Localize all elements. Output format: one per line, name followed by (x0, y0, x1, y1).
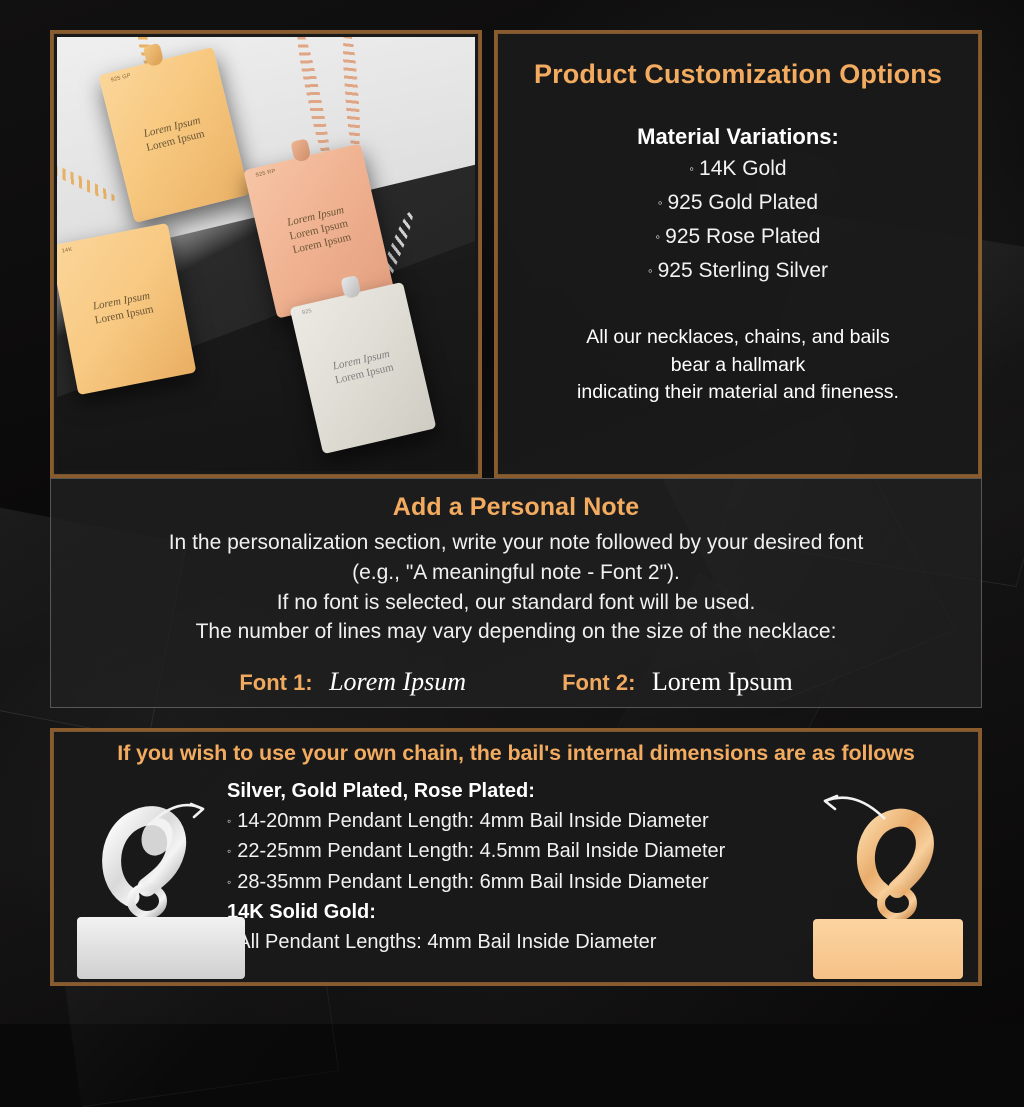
options-title: Product Customization Options (519, 59, 957, 90)
note-line: (e.g., "A meaningful note - Font 2"). (69, 558, 963, 588)
note-line: If no font is selected, our standard fon… (69, 588, 963, 618)
silver-bail-illustration (75, 779, 255, 979)
product-photo-panel: 925 GP Lorem Ipsum Lorem Ipsum 14K Lorem… (50, 30, 482, 478)
font-1-label: Font 1: (239, 670, 312, 695)
bail-dimensions-panel: If you wish to use your own chain, the b… (50, 728, 982, 986)
hallmark-label: 925 RP (255, 168, 276, 178)
hallmark-label: 925 (301, 308, 312, 316)
bullet-icon: ◦ (656, 229, 661, 244)
product-photo: 925 GP Lorem Ipsum Lorem Ipsum 14K Lorem… (57, 37, 475, 471)
font-2-sample-text: Lorem Ipsum (652, 667, 793, 696)
material-variations-heading: Material Variations: (519, 124, 957, 150)
font-2-label: Font 2: (562, 670, 635, 695)
pendant-14k-gold: 14K Lorem Ipsum Lorem Ipsum (57, 223, 196, 395)
material-label: 925 Rose Plated (665, 225, 820, 248)
material-label: 925 Sterling Silver (658, 259, 828, 282)
font-1-sample-row: Font 1: Lorem Ipsum (239, 667, 466, 697)
material-item: ◦925 Rose Plated (519, 220, 957, 254)
bail-dimension-text: All Pendant Lengths: 4mm Bail Inside Dia… (237, 931, 656, 953)
gold-bail-illustration (785, 779, 963, 979)
hallmark-line: bear a hallmark (519, 352, 957, 380)
hallmark-label: 14K (61, 247, 73, 255)
hallmark-line: indicating their material and fineness. (519, 379, 957, 407)
material-list: ◦14K Gold ◦925 Gold Plated ◦925 Rose Pla… (519, 152, 957, 288)
bail-dimensions-title: If you wish to use your own chain, the b… (67, 741, 965, 766)
bullet-icon: ◦ (689, 161, 694, 176)
bullet-icon: ◦ (658, 195, 663, 210)
note-line: In the personalization section, write yo… (69, 528, 963, 558)
hallmark-note: All our necklaces, chains, and bails bea… (519, 324, 957, 407)
bail-dimension-text: 28-35mm Pendant Length: 6mm Bail Inside … (237, 871, 708, 893)
material-label: 925 Gold Plated (668, 191, 819, 214)
font-samples: Font 1: Lorem Ipsum Font 2: Lorem Ipsum (69, 667, 963, 697)
material-item: ◦925 Gold Plated (519, 186, 957, 220)
material-item: ◦925 Sterling Silver (519, 254, 957, 288)
bail-dimension-text: 22-25mm Pendant Length: 4.5mm Bail Insid… (237, 840, 725, 862)
hallmark-line: All our necklaces, chains, and bails (519, 324, 957, 352)
bail-dimension-text: 14-20mm Pendant Length: 4mm Bail Inside … (237, 810, 708, 832)
customization-options-panel: Product Customization Options Material V… (494, 30, 982, 478)
material-item: ◦14K Gold (519, 152, 957, 186)
note-line: The number of lines may vary depending o… (69, 617, 963, 647)
hallmark-label: 925 GP (110, 73, 131, 84)
font-1-sample-text: Lorem Ipsum (329, 667, 466, 696)
note-instructions: In the personalization section, write yo… (69, 528, 963, 647)
font-2-sample-row: Font 2: Lorem Ipsum (562, 667, 793, 697)
material-label: 14K Gold (699, 157, 787, 180)
personal-note-panel: Add a Personal Note In the personalizati… (50, 478, 982, 708)
bullet-icon: ◦ (648, 263, 653, 278)
note-title: Add a Personal Note (69, 493, 963, 522)
